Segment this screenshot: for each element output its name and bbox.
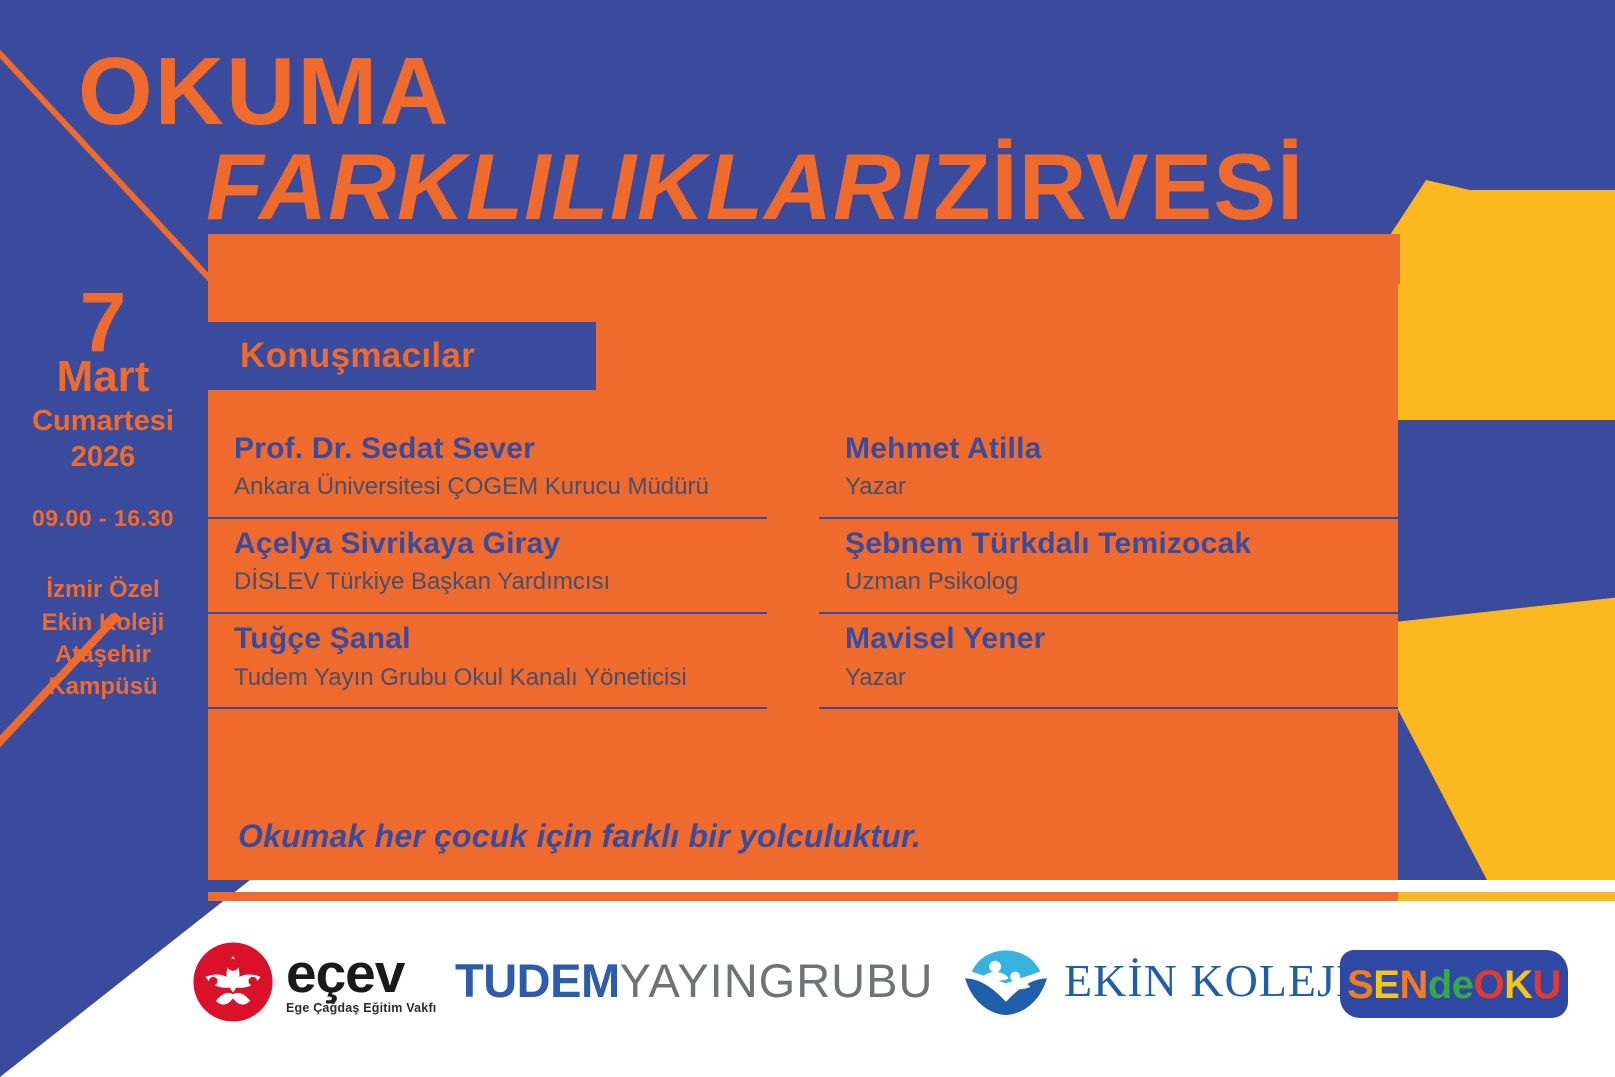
speaker-role: Uzman Psikolog [845, 566, 1398, 598]
ecev-subtitle: Ege Çağdaş Eğitim Vakfı [286, 1001, 436, 1015]
event-year: 2026 [0, 439, 206, 475]
speaker-item: Mavisel Yener Yazar [819, 614, 1398, 709]
poster-tagline: Okumak her çocuk için farklı bir yolculu… [238, 818, 921, 855]
sdo-letter: N [1399, 963, 1427, 1007]
event-day: 7 [0, 288, 206, 357]
speaker-role: Ankara Üniversitesi ÇOGEM Kurucu Müdürü [234, 471, 767, 503]
venue-line-3: Ataşehir [0, 639, 206, 671]
ecev-people-circle-icon [190, 939, 276, 1025]
speaker-item: Şebnem Türkdalı Temizocak Uzman Psikolog [819, 519, 1398, 614]
ecev-wordmark: eçev Ege Çağdaş Eğitim Vakfı [286, 949, 436, 1015]
venue-line-4: Kampüsü [0, 671, 206, 703]
speaker-item: Tuğçe Şanal Tudem Yayın Grubu Okul Kanal… [208, 614, 767, 709]
event-poster: OKUMA FARKLILIKLARIZİRVESİ 7 Mart Cumart… [0, 0, 1615, 1077]
title-zirvesi: ZİRVESİ [933, 134, 1304, 239]
ekin-koleji-name: EKİN KOLEJİ [1064, 954, 1352, 1007]
logo-ekin-koleji: EKİN KOLEJİ [960, 941, 1352, 1019]
speaker-role: DİSLEV Türkiye Başkan Yardımcısı [234, 566, 767, 598]
speaker-name: Şebnem Türkdalı Temizocak [845, 525, 1398, 563]
sponsor-logo-bar: eçev Ege Çağdaş Eğitim Vakfı TUDEMYAYING… [0, 901, 1615, 1077]
speakers-heading-box: Konuşmacılar [208, 322, 596, 390]
sdo-letter: de [1428, 963, 1474, 1007]
sdo-letter: S [1347, 963, 1373, 1007]
speaker-name: Prof. Dr. Sedat Sever [234, 430, 767, 468]
speaker-name: Açelya Sivrikaya Giray [234, 525, 767, 563]
sdo-letter: K [1504, 963, 1532, 1007]
logo-sen-de-oku: SENdeOKU [1340, 946, 1568, 1024]
event-weekday: Cumartesi [0, 403, 206, 439]
sdo-letter: U [1533, 963, 1561, 1007]
logo-tudem: TUDEMYAYINGRUBU [455, 953, 933, 1008]
sen-de-oku-wordmark: SENdeOKU [1340, 946, 1568, 1024]
title-line-two: FARKLILIKLARIZİRVESİ [206, 140, 1304, 234]
speaker-name: Mavisel Yener [845, 620, 1398, 658]
event-venue: İzmir Özel Ekin Koleji Ataşehir Kampüsü [0, 574, 206, 703]
date-venue-column: 7 Mart Cumartesi 2026 09.00 - 16.30 İzmi… [0, 288, 206, 703]
speaker-role: Tudem Yayın Grubu Okul Kanalı Yöneticisi [234, 662, 767, 694]
sen-de-oku-letters: SENdeOKU [1347, 963, 1561, 1008]
tudem-subtitle: YAYINGRUBU [620, 953, 934, 1008]
speaker-item: Prof. Dr. Sedat Sever Ankara Üniversites… [208, 424, 767, 519]
speaker-role: Yazar [845, 662, 1398, 694]
tudem-name: TUDEM [455, 953, 620, 1008]
decorative-yellow-rule [1398, 892, 1615, 901]
speaker-role: Yazar [845, 471, 1398, 503]
speaker-item: Açelya Sivrikaya Giray DİSLEV Türkiye Ba… [208, 519, 767, 614]
speakers-column-right: Mehmet Atilla Yazar Şebnem Türkdalı Temi… [819, 424, 1398, 709]
title-farkliliklari: FARKLILIKLARI [206, 134, 929, 239]
ecev-name: eçev [286, 949, 436, 997]
event-time: 09.00 - 16.30 [0, 505, 206, 532]
speaker-item: Mehmet Atilla Yazar [819, 424, 1398, 519]
logo-ecev: eçev Ege Çağdaş Eğitim Vakfı [190, 939, 436, 1025]
speaker-name: Tuğçe Şanal [234, 620, 767, 658]
sdo-letter: O [1474, 963, 1505, 1007]
speaker-name: Mehmet Atilla [845, 430, 1398, 468]
speakers-heading-label: Konuşmacılar [208, 336, 475, 376]
venue-line-1: İzmir Özel [0, 574, 206, 606]
decorative-orange-rule [208, 892, 1398, 901]
venue-line-2: Ekin Koleji [0, 607, 206, 639]
sdo-letter: E [1373, 963, 1399, 1007]
speakers-column-left: Prof. Dr. Sedat Sever Ankara Üniversites… [208, 424, 787, 709]
event-month: Mart [0, 355, 206, 399]
ekin-book-hands-icon [960, 941, 1052, 1019]
speakers-grid: Prof. Dr. Sedat Sever Ankara Üniversites… [208, 424, 1398, 709]
title-line-okuma: OKUMA [78, 44, 451, 140]
